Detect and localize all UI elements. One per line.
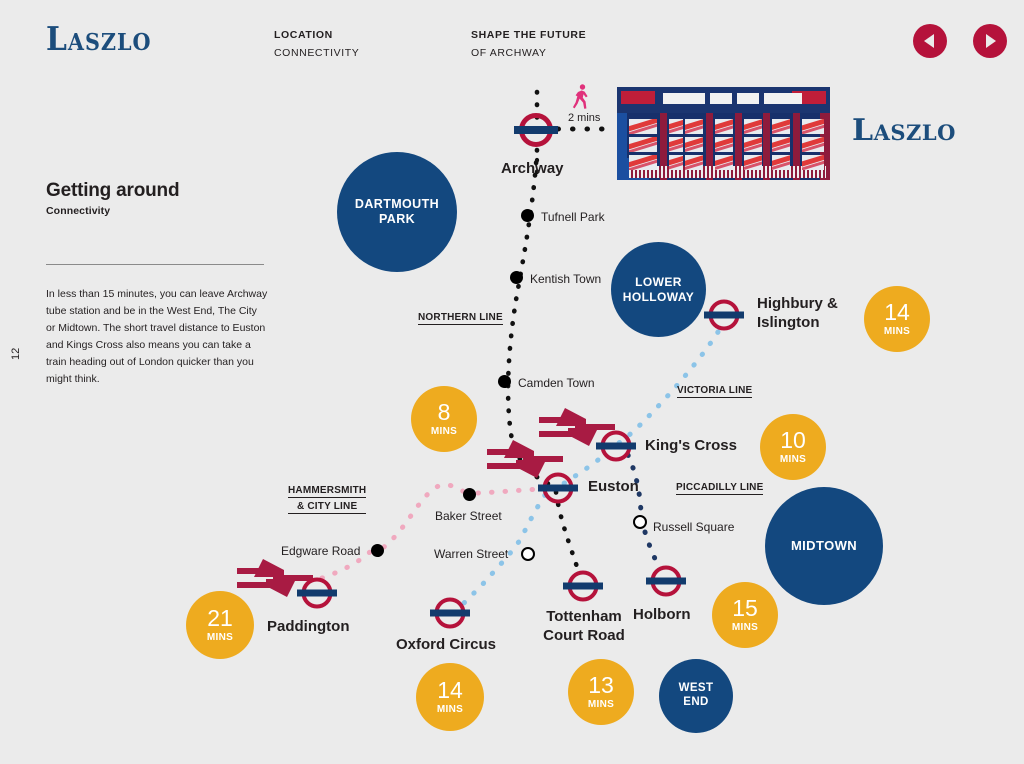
zone-midtown[interactable]: MIDTOWN [765, 487, 883, 605]
journey-time-unit: MINS [207, 633, 233, 643]
journey-time-highbury[interactable]: 14 MINS [864, 286, 930, 352]
station-label-tottenham-court-road: Tottenham Court Road [538, 608, 630, 646]
pedestrian-icon [572, 84, 592, 110]
building-window [685, 155, 703, 170]
roundel-kings-cross[interactable] [596, 428, 636, 464]
building-window [629, 155, 657, 170]
station-dot-tufnell-park[interactable] [521, 209, 534, 222]
building-window [669, 119, 683, 134]
roundel-euston[interactable] [538, 470, 578, 506]
station-label-line2: Court Road [538, 627, 630, 646]
journey-time-value: 8 [438, 401, 451, 424]
zone-label-line2: HOLLOWAY [623, 290, 694, 304]
building-window [744, 137, 762, 152]
station-label-line2: Islington [757, 314, 838, 333]
station-dot-kentish-town[interactable] [510, 271, 523, 284]
journey-time-unit: MINS [884, 327, 910, 337]
journey-time-paddington[interactable]: 21 MINS [186, 591, 254, 659]
journey-time-unit: MINS [588, 700, 614, 710]
journey-time-value: 14 [437, 679, 463, 702]
station-label-euston: Euston [588, 478, 639, 495]
journey-time-unit: MINS [732, 623, 758, 633]
line-label-northern: NORTHERN LINE [418, 312, 503, 325]
journey-time-unit: MINS [780, 455, 806, 465]
station-dot-baker-street[interactable] [463, 488, 476, 501]
building-window [802, 119, 824, 134]
zone-label-line2: END [683, 696, 708, 708]
building-window [744, 119, 762, 134]
station-label-camden-town: Camden Town [518, 376, 595, 390]
roundel-tottenham-court-road[interactable] [563, 568, 603, 604]
zone-label-line1: WEST [679, 682, 714, 694]
roundel-highbury-islington[interactable] [704, 297, 744, 333]
station-label-tufnell-park: Tufnell Park [541, 210, 605, 224]
journey-time-tottenham-court-road[interactable]: 13 MINS [568, 659, 634, 725]
walk-time-label: 2 mins [568, 112, 600, 124]
journey-time-camden-town[interactable]: 8 MINS [411, 386, 477, 452]
zone-label-line1: LOWER [635, 275, 682, 289]
station-label-holborn: Holborn [633, 606, 691, 623]
station-label-baker-street: Baker Street [435, 509, 502, 523]
zone-label-line2: PARK [379, 212, 415, 226]
line-label-hc-line2: & CITY LINE [288, 501, 366, 514]
journey-time-value: 10 [780, 429, 806, 452]
station-label-paddington: Paddington [267, 618, 350, 635]
zone-lower-holloway[interactable]: LOWER HOLLOWAY [611, 242, 706, 337]
building-window [802, 155, 824, 170]
building-window [715, 137, 733, 152]
station-label-archway: Archway [501, 160, 564, 177]
zone-west-end[interactable]: WEST END [659, 659, 733, 733]
station-label-oxford-circus: Oxford Circus [396, 636, 496, 653]
building-window [772, 155, 790, 170]
journey-time-oxford-circus[interactable]: 14 MINS [416, 663, 484, 731]
building-illustration [617, 87, 830, 180]
journey-time-kings-cross[interactable]: 10 MINS [760, 414, 826, 480]
station-label-line1: Highbury & [757, 295, 838, 314]
station-label-kings-cross: King's Cross [645, 437, 737, 454]
building-window [669, 137, 683, 152]
station-dot-russell-square[interactable] [633, 515, 647, 529]
journey-time-value: 14 [884, 301, 910, 324]
station-label-russell-square: Russell Square [653, 520, 734, 534]
building-window [772, 119, 790, 134]
journey-time-midtown[interactable]: 15 MINS [712, 582, 778, 648]
building-window [715, 119, 733, 134]
station-dot-warren-street[interactable] [521, 547, 535, 561]
zone-label-line1: DARTMOUTH [355, 197, 439, 211]
building-window [744, 155, 762, 170]
journey-time-value: 15 [732, 597, 758, 620]
journey-time-unit: MINS [437, 705, 463, 715]
building-window [772, 137, 790, 152]
building-window [685, 137, 703, 152]
building-window [669, 155, 683, 170]
roundel-oxford-circus[interactable] [430, 595, 470, 631]
journey-time-unit: MINS [431, 427, 457, 437]
zone-label-line1: MIDTOWN [791, 538, 857, 553]
line-label-victoria: VICTORIA LINE [677, 385, 752, 398]
roundel-archway[interactable] [514, 110, 558, 150]
building-sign-left [621, 91, 655, 104]
piccadilly-line-path [628, 455, 660, 568]
building-window [629, 137, 657, 152]
brand-watermark: Laszlo [852, 116, 956, 146]
station-dot-camden-town[interactable] [498, 375, 511, 388]
roundel-paddington[interactable] [297, 575, 337, 611]
roundel-holborn[interactable] [646, 563, 686, 599]
station-label-line1: Tottenham [538, 608, 630, 627]
zone-dartmouth-park[interactable]: DARTMOUTH PARK [337, 152, 457, 272]
journey-time-value: 21 [207, 607, 233, 630]
station-label-highbury-islington: Highbury & Islington [757, 295, 838, 333]
building-window [685, 119, 703, 134]
station-label-edgware-road: Edgware Road [281, 544, 360, 558]
journey-time-value: 13 [588, 674, 614, 697]
building-window [715, 155, 733, 170]
line-label-hammersmith-city: HAMMERSMITH & CITY LINE [288, 485, 366, 511]
station-dot-edgware-road[interactable] [371, 544, 384, 557]
slide-canvas: Laszlo LOCATION CONNECTIVITY SHAPE THE F… [0, 0, 1024, 764]
line-label-hc-line1: HAMMERSMITH [288, 485, 366, 498]
building-window [629, 119, 657, 134]
building-window [802, 137, 824, 152]
line-label-piccadilly: PICCADILLY LINE [676, 482, 763, 495]
station-label-kentish-town: Kentish Town [530, 272, 601, 286]
station-label-warren-street: Warren Street [434, 547, 508, 561]
